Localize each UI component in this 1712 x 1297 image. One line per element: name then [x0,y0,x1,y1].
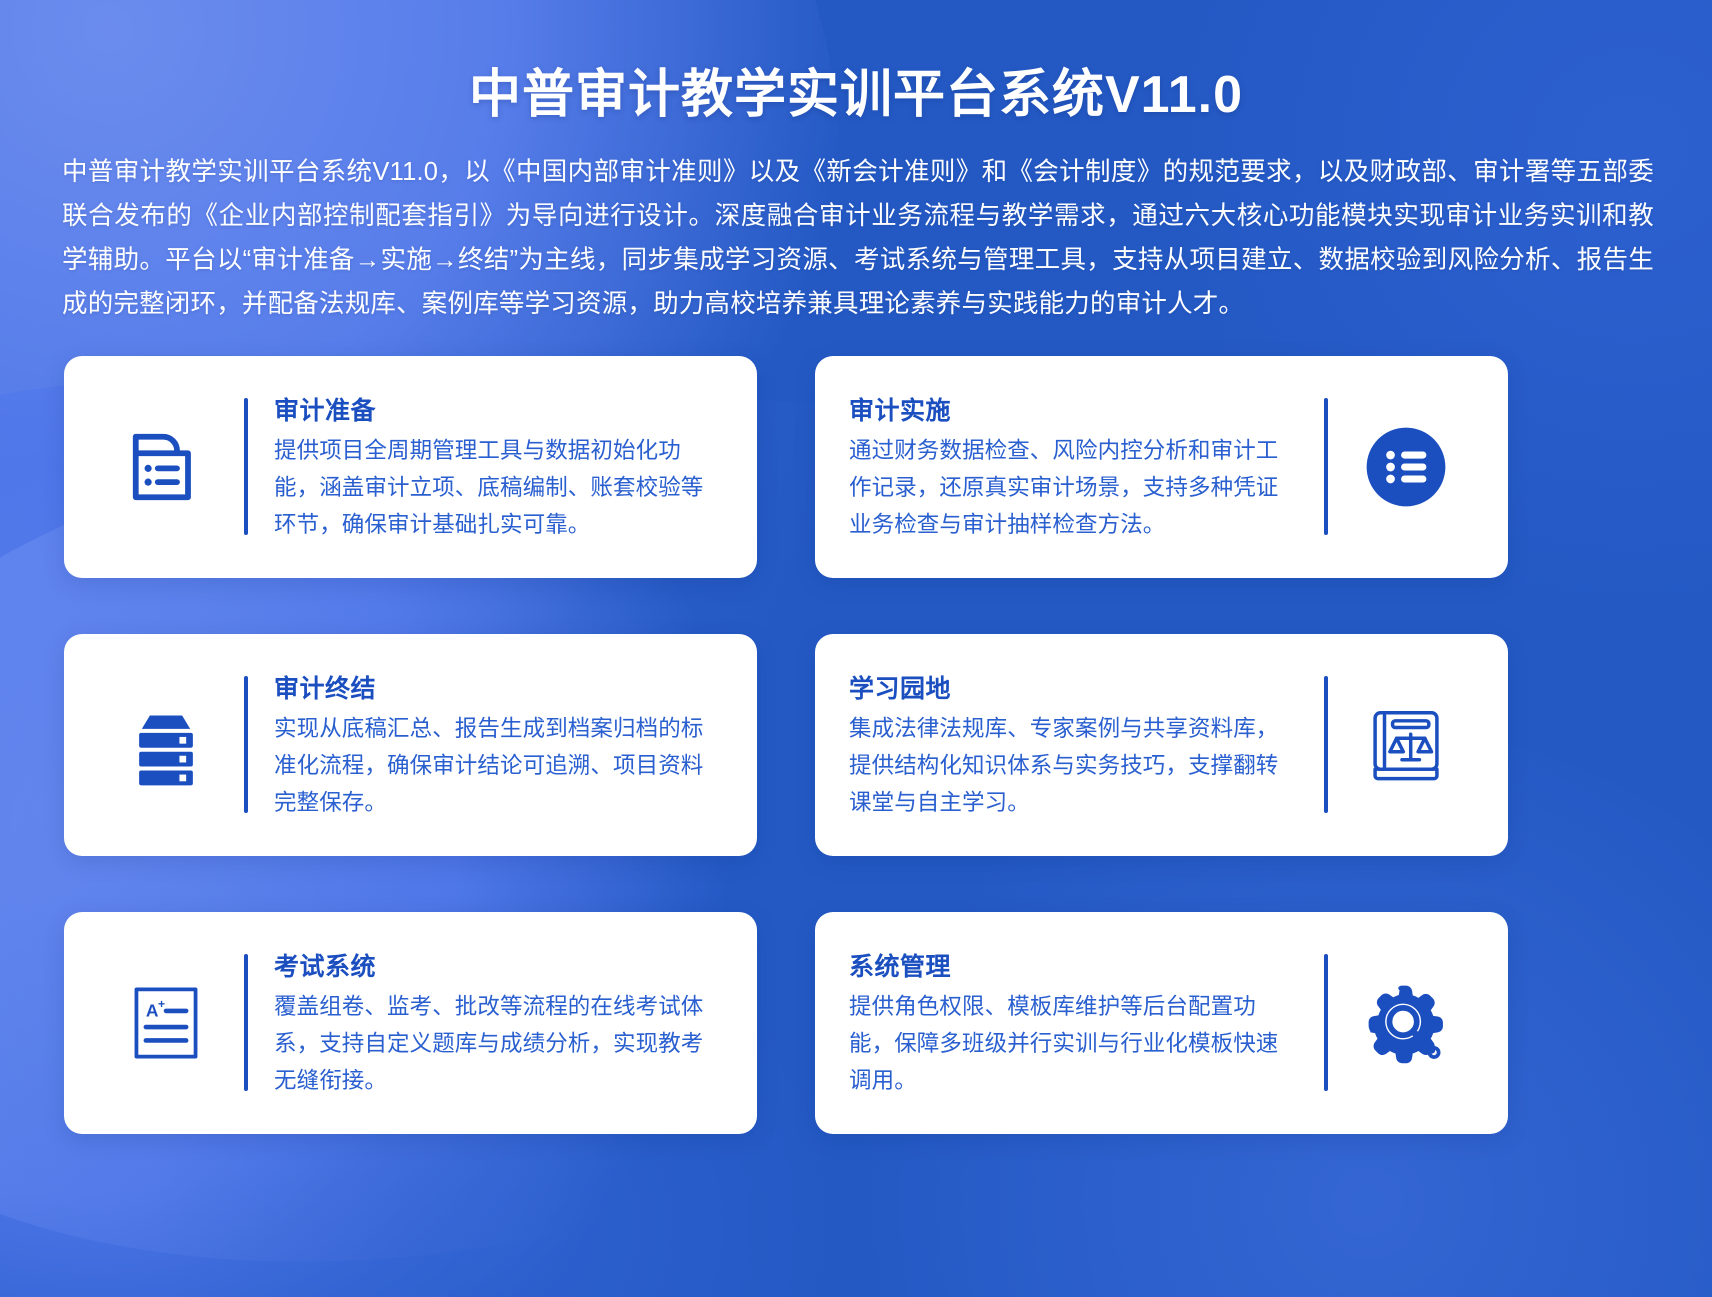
law-book-scales-icon [1338,702,1474,788]
card-body: 覆盖组卷、监考、批改等流程的在线考试体系，支持自定义题库与成绩分析，实现教考无缝… [274,988,723,1099]
card-text-block: 考试系统 覆盖组卷、监考、批改等流程的在线考试体系，支持自定义题库与成绩分析，实… [274,947,723,1099]
document-folder-list-icon [98,423,234,511]
card-body: 集成法律法规库、专家案例与共享资料库，提供结构化知识体系与实务技巧，支撑翻转课堂… [849,710,1298,821]
svg-text:+: + [158,997,165,1011]
card-divider [244,676,248,813]
feature-card-system-management[interactable]: 系统管理 提供角色权限、模板库维护等后台配置功能，保障多班级并行实训与行业化模板… [815,912,1508,1134]
card-text-block: 系统管理 提供角色权限、模板库维护等后台配置功能，保障多班级并行实训与行业化模板… [849,947,1298,1099]
card-title: 审计准备 [274,391,723,427]
exam-paper-grade-icon: A + [98,980,234,1066]
poster-canvas: 中普审计教学实训平台系统V11.0 中普审计教学实训平台系统V11.0，以《中国… [0,0,1712,1297]
feature-card-exam-system[interactable]: A + 考试系统 覆盖组卷、监考、批改等流程的在线考试体系，支持自定义题库与成绩… [64,912,757,1134]
card-divider [244,954,248,1091]
card-title: 审计实施 [849,391,1298,427]
card-title: 系统管理 [849,947,1298,983]
card-divider [1324,954,1328,1091]
card-body: 通过财务数据检查、风险内控分析和审计工作记录，还原真实审计场景，支持多种凭证业务… [849,432,1298,543]
circle-list-icon [1338,422,1474,512]
card-title: 学习园地 [849,669,1298,705]
card-text-block: 审计准备 提供项目全周期管理工具与数据初始化功能，涵盖审计立项、底稿编制、账套校… [274,391,723,543]
poster-header: 中普审计教学实训平台系统V11.0 中普审计教学实训平台系统V11.0，以《中国… [0,0,1712,326]
card-text-block: 审计实施 通过财务数据检查、风险内控分析和审计工作记录，还原真实审计场景，支持多… [849,391,1298,543]
card-title: 审计终结 [274,669,723,705]
card-text-block: 审计终结 实现从底稿汇总、报告生成到档案归档的标准化流程，确保审计结论可追溯、项… [274,669,723,821]
page-description: 中普审计教学实训平台系统V11.0，以《中国内部审计准则》以及《新会计准则》和《… [0,126,1712,326]
feature-card-learning-garden[interactable]: 学习园地 集成法律法规库、专家案例与共享资料库，提供结构化知识体系与实务技巧，支… [815,634,1508,856]
feature-card-audit-implementation[interactable]: 审计实施 通过财务数据检查、风险内控分析和审计工作记录，还原真实审计场景，支持多… [815,356,1508,578]
card-divider [1324,398,1328,535]
card-body: 提供项目全周期管理工具与数据初始化功能，涵盖审计立项、底稿编制、账套校验等环节，… [274,432,723,543]
feature-card-grid: 审计准备 提供项目全周期管理工具与数据初始化功能，涵盖审计立项、底稿编制、账套校… [0,326,1712,1134]
feature-card-audit-preparation[interactable]: 审计准备 提供项目全周期管理工具与数据初始化功能，涵盖审计立项、底稿编制、账套校… [64,356,757,578]
card-body: 提供角色权限、模板库维护等后台配置功能，保障多班级并行实训与行业化模板快速调用。 [849,988,1298,1099]
card-divider [244,398,248,535]
card-text-block: 学习园地 集成法律法规库、专家案例与共享资料库，提供结构化知识体系与实务技巧，支… [849,669,1298,821]
feature-card-audit-conclusion[interactable]: 审计终结 实现从底稿汇总、报告生成到档案归档的标准化流程，确保审计结论可追溯、项… [64,634,757,856]
gear-magnifier-icon [1338,977,1474,1069]
svg-text:A: A [146,1000,159,1020]
server-stack-icon [98,702,234,788]
card-divider [1324,676,1328,813]
card-body: 实现从底稿汇总、报告生成到档案归档的标准化流程，确保审计结论可追溯、项目资料完整… [274,710,723,821]
card-title: 考试系统 [274,947,723,983]
page-title: 中普审计教学实训平台系统V11.0 [0,0,1712,126]
